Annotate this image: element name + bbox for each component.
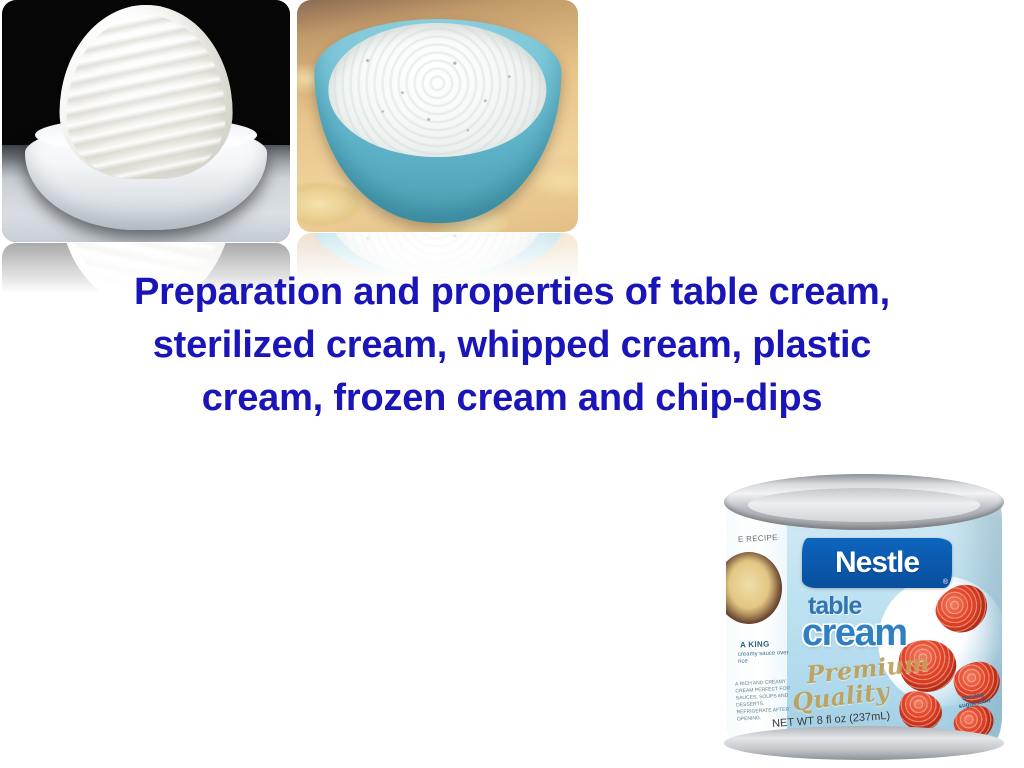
dip-contents: [329, 23, 547, 158]
can-bottom-rim: [724, 726, 1004, 760]
chip-dip-backdrop: [297, 0, 578, 232]
chip-dip-image: [297, 0, 578, 232]
can-top-rim: [724, 474, 1004, 530]
nestle-brand-text: Nestle: [835, 546, 919, 580]
can-top-lid: [748, 488, 980, 522]
side-dish-subtitle-text: creamy sauce over rice: [738, 650, 790, 666]
product-line-cream-text: cream: [802, 612, 906, 655]
whipped-cream-photo-frame: [2, 0, 290, 242]
whipped-cream-backdrop: [2, 0, 290, 242]
registered-trademark-icon: ®: [943, 579, 948, 586]
slide-title: Preparation and properties of table crea…: [36, 266, 988, 425]
nestle-table-cream-can: E RECIPE A KING creamy sauce over rice A…: [718, 470, 1010, 762]
side-dish-name-text: A KING: [740, 639, 770, 649]
whipped-cream-image: [2, 0, 290, 242]
nestle-logo-banner: Nestle ®: [802, 538, 952, 588]
cream-swirl: [60, 5, 233, 179]
presentation-slide: Preparation and properties of table crea…: [0, 0, 1024, 768]
chip-dip-photo-frame: [297, 0, 578, 232]
can-label-body: E RECIPE A KING creamy sauce over rice A…: [726, 494, 1002, 742]
